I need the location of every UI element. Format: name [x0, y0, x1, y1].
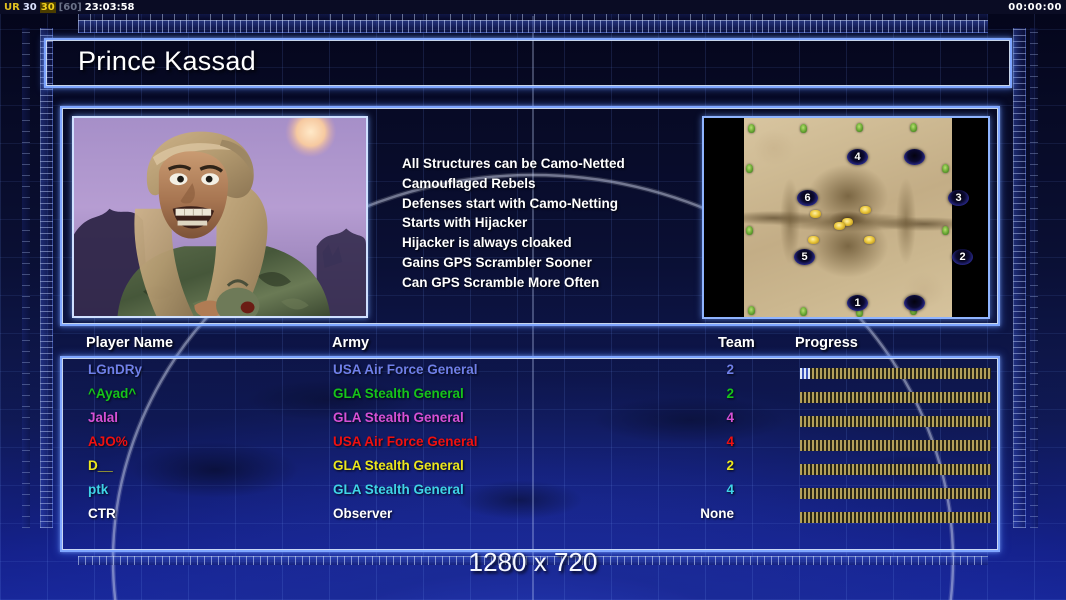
player-name: LGnDRy — [88, 362, 142, 377]
ability-line: Hijacker is always cloaked — [402, 233, 722, 253]
column-header-army: Army — [332, 335, 369, 351]
player-team: 2 — [726, 458, 734, 473]
player-name: Jalal — [88, 410, 118, 425]
player-army: GLA Stealth General — [333, 410, 464, 425]
progress-track — [800, 488, 991, 499]
map-start-position — [904, 295, 925, 311]
ability-line: Defenses start with Camo-Netting — [402, 194, 722, 214]
player-army: GLA Stealth General — [333, 458, 464, 473]
player-team: 2 — [726, 386, 734, 401]
map-start-position-2: 2 — [952, 249, 973, 265]
map-start-position — [904, 149, 925, 165]
player-army: GLA Stealth General — [333, 386, 464, 401]
resolution-caption: 1280 x 720 — [0, 547, 1066, 578]
map-preview-letterbox: 463521 — [704, 118, 988, 317]
progress-track — [800, 368, 991, 379]
ruler-strip-top-thin — [78, 13, 988, 20]
map-preview-frame: 463521 — [702, 116, 990, 319]
map-start-position-4: 4 — [847, 149, 868, 165]
ability-line: Starts with Hijacker — [402, 213, 722, 233]
ruler-strip-top — [78, 20, 988, 33]
table-row[interactable]: JalalGLA Stealth General4 — [0, 410, 1000, 434]
ability-line: All Structures can be Camo-Netted — [402, 154, 722, 174]
progress-track — [800, 440, 991, 451]
fps-counter-group: UR 30 30 [60] 23:03:58 — [4, 2, 134, 13]
map-start-position-5: 5 — [794, 249, 815, 265]
general-info-panel: All Structures can be Camo-NettedCamoufl… — [60, 106, 1000, 326]
progress-track — [800, 416, 991, 427]
fps-current: 30 — [23, 2, 37, 13]
ruler-strip-right-outer — [1030, 28, 1038, 528]
fps-limit: [60] — [59, 2, 82, 13]
progress-track — [800, 392, 991, 403]
player-army: Observer — [333, 506, 392, 521]
fps-label: UR — [4, 2, 20, 13]
player-team: 4 — [726, 434, 734, 449]
map-start-position-1: 1 — [847, 295, 868, 311]
ability-line: Camouflaged Rebels — [402, 174, 722, 194]
player-army: GLA Stealth General — [333, 482, 464, 497]
player-progress-bar — [800, 464, 991, 475]
player-progress-bar — [800, 488, 991, 499]
player-progress-bar — [800, 440, 991, 451]
table-row[interactable]: D__GLA Stealth General2 — [0, 458, 1000, 482]
player-team: 4 — [726, 482, 734, 497]
page-title: Prince Kassad — [78, 46, 256, 77]
player-army: USA Air Force General — [333, 434, 478, 449]
player-team: 2 — [726, 362, 734, 377]
map-terrain-image — [744, 118, 952, 317]
general-title-panel: Prince Kassad — [44, 38, 1012, 88]
progress-fill — [800, 368, 810, 379]
ability-line: Gains GPS Scrambler Sooner — [402, 253, 722, 273]
column-header-progress: Progress — [795, 335, 858, 351]
progress-track — [800, 512, 991, 523]
table-row[interactable]: AJO%USA Air Force General4 — [0, 434, 1000, 458]
player-army: USA Air Force General — [333, 362, 478, 377]
ability-line: Can GPS Scramble More Often — [402, 273, 722, 293]
player-progress-bar — [800, 512, 991, 523]
column-header-player-name: Player Name — [86, 335, 173, 351]
player-name: AJO% — [88, 434, 128, 449]
table-row[interactable]: CTRObserverNone — [0, 506, 1000, 530]
game-clock: 00:00:00 — [1008, 2, 1062, 13]
player-name: ptk — [88, 482, 108, 497]
progress-track — [800, 464, 991, 475]
player-progress-bar — [800, 392, 991, 403]
session-timer: 23:03:58 — [85, 2, 135, 13]
player-team: None — [700, 506, 734, 521]
status-bar: UR 30 30 [60] 23:03:58 00:00:00 — [0, 0, 1066, 14]
player-name: D__ — [88, 458, 113, 473]
player-name: CTR — [88, 506, 116, 521]
player-table-header: Player Name Army Team Progress — [0, 335, 1000, 355]
player-name: ^Ayad^ — [88, 386, 136, 401]
player-progress-bar — [800, 368, 991, 379]
map-start-position-3: 3 — [948, 190, 969, 206]
player-list-rows: LGnDRyUSA Air Force General2^Ayad^GLA St… — [0, 362, 1000, 530]
general-portrait-frame — [72, 116, 368, 318]
fps-average: 30 — [40, 2, 56, 13]
table-row[interactable]: ptkGLA Stealth General4 — [0, 482, 1000, 506]
player-progress-bar — [800, 416, 991, 427]
table-row[interactable]: LGnDRyUSA Air Force General2 — [0, 362, 1000, 386]
column-header-team: Team — [718, 335, 755, 351]
player-team: 4 — [726, 410, 734, 425]
map-start-position-6: 6 — [797, 190, 818, 206]
general-abilities-list: All Structures can be Camo-NettedCamoufl… — [402, 154, 722, 293]
table-row[interactable]: ^Ayad^GLA Stealth General2 — [0, 386, 1000, 410]
general-portrait-image — [74, 118, 366, 317]
ruler-strip-right — [1013, 28, 1026, 528]
